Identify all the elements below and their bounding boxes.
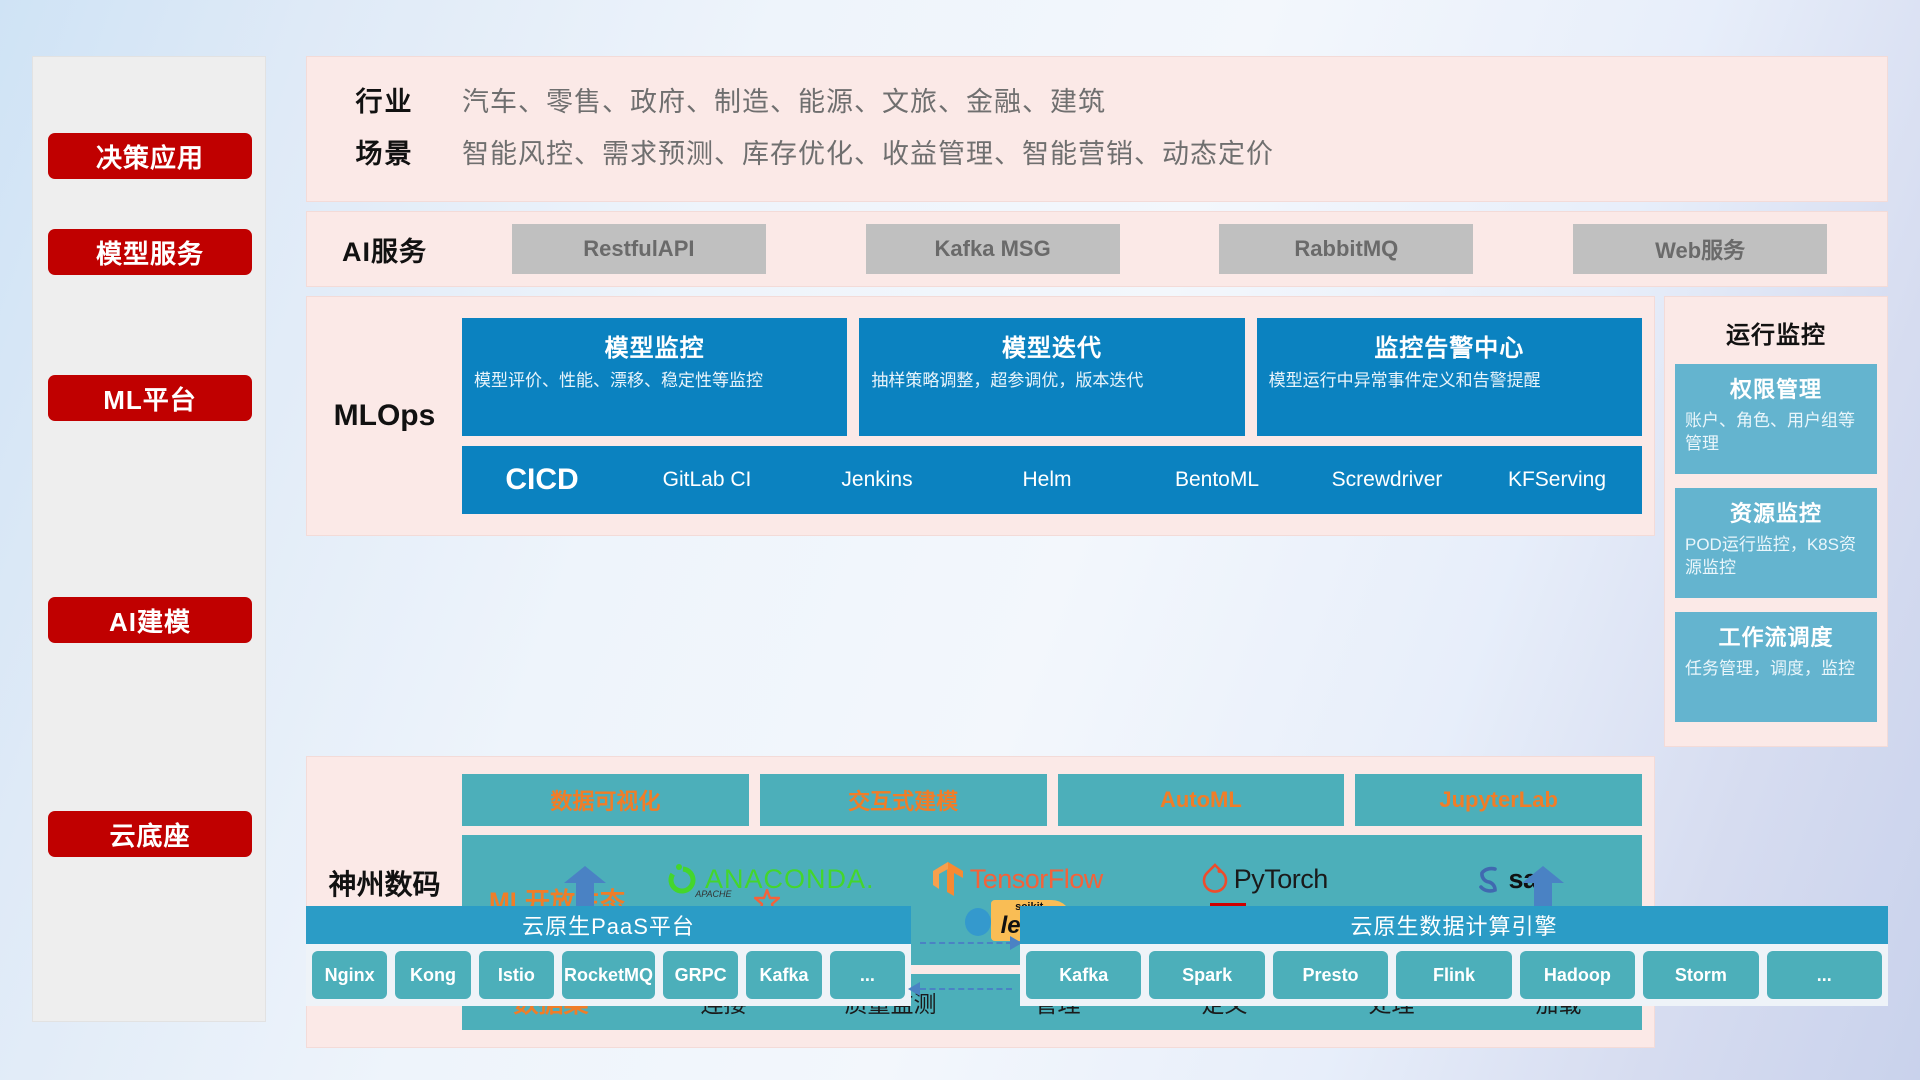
- cicd-item-screwdriver[interactable]: Screwdriver: [1302, 469, 1472, 491]
- rail-item-label: ML平台: [103, 380, 197, 417]
- runtime-monitoring-column: 运行监控 权限管理 账户、角色、用户组等管理 资源监控 POD运行监控，K8S资…: [1664, 296, 1888, 747]
- paas-group: 云原生PaaS平台 Nginx Kong Istio RocketMQ GRPC…: [306, 906, 911, 1006]
- rail-item-label: 云底座: [109, 816, 190, 853]
- ai-service-band: AI服务 RestfulAPI Kafka MSG RabbitMQ Web服务: [306, 211, 1888, 287]
- card-title: 资源监控: [1685, 496, 1867, 528]
- cicd-item-bentoml[interactable]: BentoML: [1132, 469, 1302, 491]
- connector-top-dashed-line: [920, 942, 1012, 944]
- rail-item-model-service[interactable]: 模型服务: [48, 229, 252, 275]
- mlops-and-monitor-row: MLOps 模型监控 模型评价、性能、漂移、稳定性等监控 模型迭代 抽样策略调整…: [306, 296, 1888, 747]
- engine-chip-presto[interactable]: Presto: [1273, 951, 1388, 999]
- engine-chip-spark[interactable]: Spark: [1149, 951, 1264, 999]
- mlops-card-alert-center[interactable]: 监控告警中心 模型运行中异常事件定义和告警提醒: [1257, 318, 1642, 436]
- decision-apps-band: 行业 汽车、零售、政府、制造、能源、文旅、金融、建筑 场景 智能风控、需求预测、…: [306, 56, 1888, 202]
- ai-chip-restfulapi[interactable]: RestfulAPI: [512, 224, 766, 274]
- lab-tool-automl[interactable]: AutoML: [1058, 774, 1345, 826]
- paas-title: 云原生PaaS平台: [306, 906, 911, 944]
- mlops-label: MLOps: [307, 399, 462, 433]
- paas-chip-more[interactable]: ...: [830, 951, 905, 999]
- ml-lab-tool-list: 数据可视化 交互式建模 AutoML JupyterLab: [462, 774, 1642, 826]
- cloud-foundation-layer: 云原生PaaS平台 Nginx Kong Istio RocketMQ GRPC…: [306, 888, 1888, 1023]
- rail-item-label: AI建模: [109, 602, 191, 639]
- paas-chip-istio[interactable]: Istio: [479, 951, 554, 999]
- rail-item-label: 决策应用: [96, 138, 204, 175]
- cicd-item-gitlab-ci[interactable]: GitLab CI: [622, 469, 792, 491]
- rail-item-ai-modeling[interactable]: AI建模: [48, 597, 252, 643]
- card-title: 模型监控: [474, 328, 835, 363]
- cicd-bar: CICD GitLab CI Jenkins Helm BentoML Scre…: [462, 446, 1642, 514]
- card-desc: 模型评价、性能、漂移、稳定性等监控: [474, 370, 835, 393]
- lab-tool-interactive-modeling[interactable]: 交互式建模: [760, 774, 1047, 826]
- cicd-item-kfserving[interactable]: KFServing: [1472, 469, 1642, 491]
- rail-item-label: 模型服务: [96, 234, 204, 271]
- ai-chip-web-service[interactable]: Web服务: [1573, 224, 1827, 274]
- ai-service-label: AI服务: [307, 230, 462, 269]
- paas-chip-grpc[interactable]: GRPC: [663, 951, 738, 999]
- card-desc: 任务管理，调度，监控: [1685, 658, 1867, 681]
- card-desc: 抽样策略调整，超参调优，版本迭代: [871, 370, 1232, 393]
- card-desc: POD运行监控，K8S资源监控: [1685, 534, 1867, 580]
- card-title: 权限管理: [1685, 372, 1867, 404]
- card-desc: 账户、角色、用户组等管理: [1685, 410, 1867, 456]
- connector-bottom-arrow-icon: [908, 982, 920, 996]
- lab-tool-jupyterlab[interactable]: JupyterLab: [1355, 774, 1642, 826]
- paas-up-arrow-icon: [564, 866, 606, 906]
- paas-chip-kong[interactable]: Kong: [395, 951, 470, 999]
- monitor-card-resource[interactable]: 资源监控 POD运行监控，K8S资源监控: [1675, 488, 1877, 598]
- paas-chip-kafka[interactable]: Kafka: [746, 951, 821, 999]
- mlops-band: MLOps 模型监控 模型评价、性能、漂移、稳定性等监控 模型迭代 抽样策略调整…: [306, 296, 1655, 536]
- engine-up-arrow-icon: [1522, 866, 1564, 906]
- card-title: 监控告警中心: [1269, 328, 1630, 363]
- compute-engine-chip-list: Kafka Spark Presto Flink Hadoop Storm ..…: [1020, 944, 1888, 1006]
- cicd-item-jenkins[interactable]: Jenkins: [792, 469, 962, 491]
- mlops-card-list: 模型监控 模型评价、性能、漂移、稳定性等监控 模型迭代 抽样策略调整，超参调优，…: [462, 318, 1642, 436]
- engine-chip-hadoop[interactable]: Hadoop: [1520, 951, 1635, 999]
- mlops-card-model-monitoring[interactable]: 模型监控 模型评价、性能、漂移、稳定性等监控: [462, 318, 847, 436]
- ai-chip-rabbitmq[interactable]: RabbitMQ: [1219, 224, 1473, 274]
- mlops-card-model-iteration[interactable]: 模型迭代 抽样策略调整，超参调优，版本迭代: [859, 318, 1244, 436]
- cicd-item-list: GitLab CI Jenkins Helm BentoML Screwdriv…: [622, 469, 1642, 491]
- card-title: 工作流调度: [1685, 620, 1867, 652]
- cicd-title: CICD: [462, 463, 622, 497]
- rail-item-cloud-foundation[interactable]: 云底座: [48, 811, 252, 857]
- connector-bottom-dashed-line: [920, 988, 1012, 990]
- card-desc: 模型运行中异常事件定义和告警提醒: [1269, 370, 1630, 393]
- cicd-item-helm[interactable]: Helm: [962, 469, 1132, 491]
- paas-chip-nginx[interactable]: Nginx: [312, 951, 387, 999]
- scenario-label: 场景: [307, 132, 462, 171]
- industry-label: 行业: [307, 80, 462, 119]
- scenario-row: 场景 智能风控、需求预测、库存优化、收益管理、智能营销、动态定价: [307, 125, 1887, 177]
- runtime-monitoring-title: 运行监控: [1675, 315, 1877, 350]
- left-rail: 决策应用 模型服务 ML平台 AI建模 云底座: [32, 56, 266, 1022]
- paas-chip-list: Nginx Kong Istio RocketMQ GRPC Kafka ...: [306, 944, 911, 1006]
- ai-service-chip-list: RestfulAPI Kafka MSG RabbitMQ Web服务: [462, 224, 1887, 274]
- rail-item-ml-platform[interactable]: ML平台: [48, 375, 252, 421]
- card-title: 模型迭代: [871, 328, 1232, 363]
- monitor-card-workflow[interactable]: 工作流调度 任务管理，调度，监控: [1675, 612, 1877, 722]
- ai-chip-kafka-msg[interactable]: Kafka MSG: [866, 224, 1120, 274]
- engine-chip-flink[interactable]: Flink: [1396, 951, 1511, 999]
- rail-item-decision-apps[interactable]: 决策应用: [48, 133, 252, 179]
- scenario-list: 智能风控、需求预测、库存优化、收益管理、智能营销、动态定价: [462, 132, 1274, 171]
- compute-engine-group: 云原生数据计算引擎 Kafka Spark Presto Flink Hadoo…: [1020, 906, 1888, 1006]
- compute-engine-title: 云原生数据计算引擎: [1020, 906, 1888, 944]
- engine-chip-more[interactable]: ...: [1767, 951, 1882, 999]
- monitor-card-permission[interactable]: 权限管理 账户、角色、用户组等管理: [1675, 364, 1877, 474]
- engine-chip-kafka[interactable]: Kafka: [1026, 951, 1141, 999]
- lab-tool-data-visualization[interactable]: 数据可视化: [462, 774, 749, 826]
- mlops-content: 模型监控 模型评价、性能、漂移、稳定性等监控 模型迭代 抽样策略调整，超参调优，…: [462, 318, 1654, 514]
- paas-chip-rocketmq[interactable]: RocketMQ: [562, 951, 655, 999]
- engine-chip-storm[interactable]: Storm: [1643, 951, 1758, 999]
- industry-row: 行业 汽车、零售、政府、制造、能源、文旅、金融、建筑: [307, 73, 1887, 125]
- industry-list: 汽车、零售、政府、制造、能源、文旅、金融、建筑: [462, 80, 1106, 119]
